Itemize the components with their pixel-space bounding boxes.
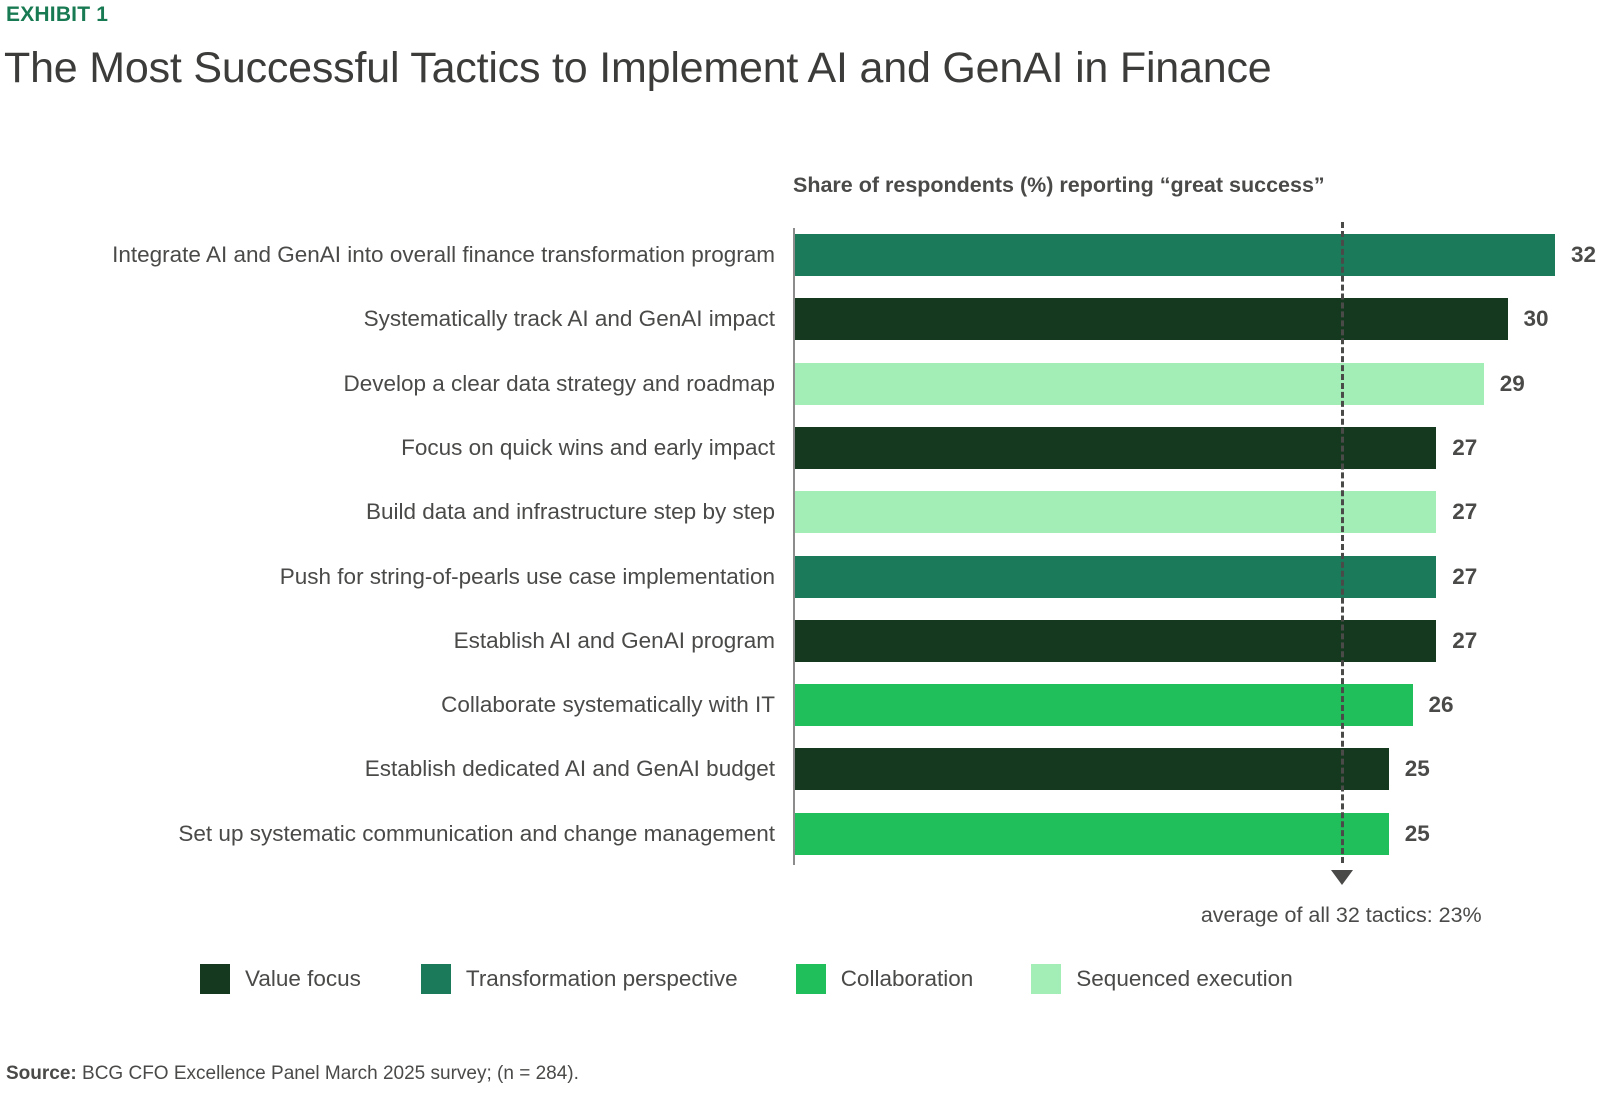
bar <box>795 556 1436 598</box>
source-label: Source: <box>6 1063 77 1084</box>
bar-row: Build data and infrastructure step by st… <box>0 491 1600 533</box>
legend-swatch-icon <box>421 964 451 994</box>
bar-row: Develop a clear data strategy and roadma… <box>0 363 1600 405</box>
legend-swatch-icon <box>796 964 826 994</box>
legend-item[interactable]: Collaboration <box>796 964 974 994</box>
bar-value-label: 27 <box>1452 427 1477 469</box>
bar-row: Push for string-of-pearls use case imple… <box>0 556 1600 598</box>
bar <box>795 234 1555 276</box>
bar-category-label: Set up systematic communication and chan… <box>0 813 775 855</box>
bar-value-label: 26 <box>1429 684 1454 726</box>
bar-category-label: Develop a clear data strategy and roadma… <box>0 363 775 405</box>
bar-category-label: Build data and infrastructure step by st… <box>0 491 775 533</box>
legend-item[interactable]: Sequenced execution <box>1031 964 1292 994</box>
bar-category-label: Focus on quick wins and early impact <box>0 427 775 469</box>
bar-value-label: 27 <box>1452 556 1477 598</box>
bar-category-label: Establish dedicated AI and GenAI budget <box>0 748 775 790</box>
chart-legend: Value focusTransformation perspectiveCol… <box>200 964 1293 994</box>
plot-area: Integrate AI and GenAI into overall fina… <box>0 0 1600 1108</box>
bar-category-label: Integrate AI and GenAI into overall fina… <box>0 234 775 276</box>
bar-row: Integrate AI and GenAI into overall fina… <box>0 234 1600 276</box>
bar <box>795 427 1436 469</box>
legend-swatch-icon <box>200 964 230 994</box>
source-text: BCG CFO Excellence Panel March 2025 surv… <box>77 1063 579 1084</box>
bar-chart: Share of respondents (%) reporting “grea… <box>0 0 1600 1108</box>
legend-label: Transformation perspective <box>466 966 738 992</box>
bar-value-label: 29 <box>1500 363 1525 405</box>
bar-row: Set up systematic communication and chan… <box>0 813 1600 855</box>
source-note: Source: BCG CFO Excellence Panel March 2… <box>6 1063 579 1085</box>
bar-value-label: 27 <box>1452 491 1477 533</box>
legend-label: Collaboration <box>841 966 974 992</box>
legend-swatch-icon <box>1031 964 1061 994</box>
bar-category-label: Systematically track AI and GenAI impact <box>0 298 775 340</box>
bar-value-label: 25 <box>1405 813 1430 855</box>
bar-value-label: 25 <box>1405 748 1430 790</box>
legend-label: Value focus <box>245 966 361 992</box>
bar-category-label: Establish AI and GenAI program <box>0 620 775 662</box>
average-reference-line <box>1341 222 1344 863</box>
legend-item[interactable]: Value focus <box>200 964 361 994</box>
bar <box>795 813 1389 855</box>
bar-value-label: 27 <box>1452 620 1477 662</box>
bar <box>795 620 1436 662</box>
bar <box>795 748 1389 790</box>
bar <box>795 491 1436 533</box>
bar-value-label: 30 <box>1524 298 1549 340</box>
bar-value-label: 32 <box>1571 234 1596 276</box>
bar-row: Establish dedicated AI and GenAI budget2… <box>0 748 1600 790</box>
legend-label: Sequenced execution <box>1076 966 1292 992</box>
bar-row: Focus on quick wins and early impact27 <box>0 427 1600 469</box>
bar-row: Collaborate systematically with IT26 <box>0 684 1600 726</box>
bar-category-label: Collaborate systematically with IT <box>0 684 775 726</box>
average-marker-arrow-icon <box>1331 870 1353 885</box>
bar-category-label: Push for string-of-pearls use case imple… <box>0 556 775 598</box>
bar-row: Establish AI and GenAI program27 <box>0 620 1600 662</box>
legend-item[interactable]: Transformation perspective <box>421 964 738 994</box>
bar-row: Systematically track AI and GenAI impact… <box>0 298 1600 340</box>
bar <box>795 363 1484 405</box>
average-caption: average of all 32 tactics: 23% <box>1201 903 1482 928</box>
bar <box>795 298 1508 340</box>
bar <box>795 684 1413 726</box>
